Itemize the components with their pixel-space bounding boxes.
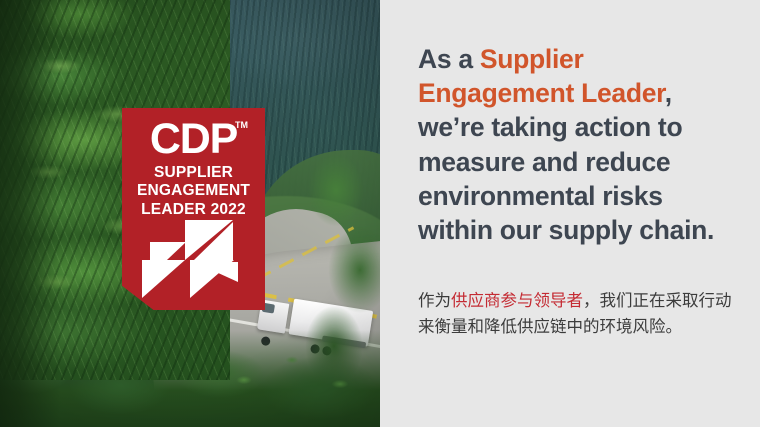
subtext-part-1: 作为: [418, 291, 451, 310]
text-panel: As a Supplier Engagement Leader, we’re t…: [380, 0, 760, 427]
chinese-subtext: 作为供应商参与领导者，我们正在采取行动来衡量和降低供应链中的环境风险。: [418, 288, 738, 341]
cdp-badge-line-3: LEADER 2022: [122, 201, 265, 219]
headline: As a Supplier Engagement Leader, we’re t…: [418, 42, 738, 247]
subtext-highlight: 供应商参与领导者: [451, 291, 583, 310]
headline-part-1: As a: [418, 44, 480, 74]
cdp-badge-subtitle: SUPPLIER ENGAGEMENT LEADER 2022: [122, 164, 265, 219]
slide-root: CDP TM SUPPLIER ENGAGEMENT LEADER 2022 A…: [0, 0, 760, 427]
headline-highlight-1: Supplier: [480, 44, 584, 74]
headline-comma: ,: [665, 78, 672, 108]
cdp-badge-line-1: SUPPLIER: [122, 164, 265, 182]
trademark-icon: TM: [235, 120, 248, 130]
headline-part-3: we’re taking action to measure and reduc…: [418, 112, 714, 245]
cdp-badge-line-2: ENGAGEMENT: [122, 182, 265, 200]
cdp-award-badge: CDP TM SUPPLIER ENGAGEMENT LEADER 2022: [122, 108, 265, 310]
cdp-triangles-logo-icon: [142, 220, 246, 298]
headline-highlight-2: Engagement Leader: [418, 78, 665, 108]
cdp-badge-content: CDP TM SUPPLIER ENGAGEMENT LEADER 2022: [122, 108, 265, 310]
